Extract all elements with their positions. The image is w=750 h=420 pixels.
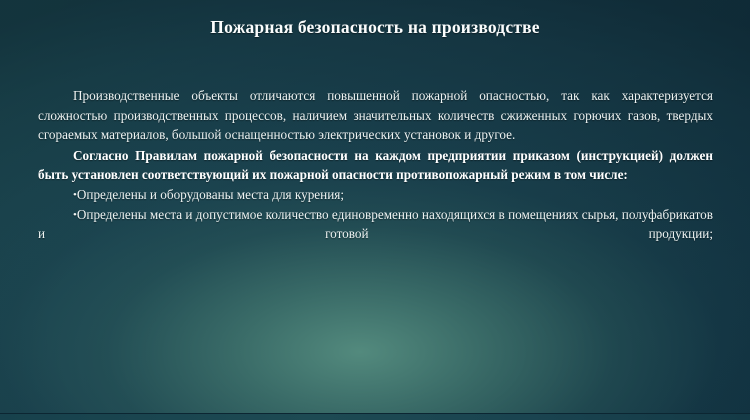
presentation-slide: Пожарная безопасность на производстве Пр… [0, 0, 750, 420]
requirements-list: •Определены и оборудованы места для куре… [38, 185, 713, 263]
paragraph-rule: Согласно Правилам пожарной безопасности … [38, 146, 713, 185]
paragraph-intro: Производственные объекты отличаются повы… [38, 86, 713, 145]
slide-title: Пожарная безопасность на производстве [0, 17, 750, 38]
list-item-label: Определены и оборудованы места для курен… [77, 187, 344, 202]
list-item: •Определены места и допустимое количеств… [38, 205, 713, 264]
slide-body: Производственные объекты отличаются повы… [38, 86, 713, 263]
slide-content: Пожарная безопасность на производстве Пр… [0, 0, 750, 420]
list-item-label: Определены места и допустимое количество… [38, 207, 713, 242]
list-item: •Определены и оборудованы места для куре… [38, 185, 713, 205]
